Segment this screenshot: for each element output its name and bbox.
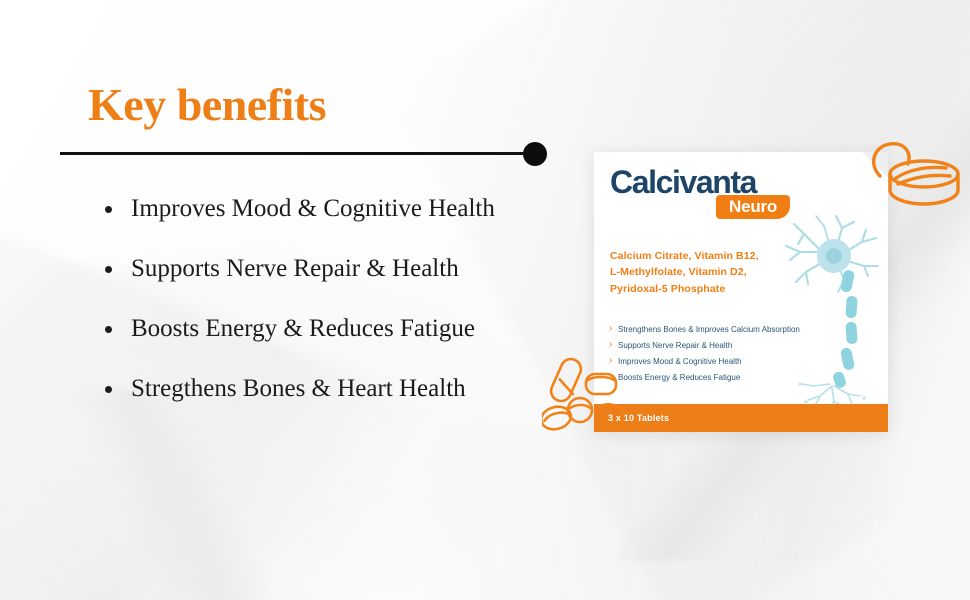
pack-size-bar: 3 x 10 Tablets: [594, 404, 888, 432]
neuron-myelin-sheath: [832, 269, 858, 389]
pill-tablets-icon: [862, 134, 968, 218]
brand-wordmark: Calcivanta: [610, 166, 756, 198]
list-item: Stregthens Bones & Heart Health: [100, 376, 570, 401]
list-item: Boosts Energy & Reduces Fatigue: [100, 316, 570, 341]
pill-capsules-icon: [542, 356, 626, 438]
ingredients-text: Calcium Citrate, Vitamin B12, L-Methylfo…: [610, 248, 790, 297]
neuron-nucleus: [826, 248, 842, 264]
benefits-list: Improves Mood & Cognitive Health Support…: [100, 196, 570, 436]
title-divider-dot: [523, 142, 547, 166]
slide-canvas: Key benefits Improves Mood & Cognitive H…: [0, 0, 970, 600]
ingredients-line: L-Methylfolate, Vitamin D2,: [610, 264, 790, 280]
neuron-icon: [764, 208, 888, 408]
ingredients-line: Pyridoxal-5 Phosphate: [610, 281, 790, 297]
list-item: Improves Mood & Cognitive Health: [100, 196, 570, 221]
list-item: Supports Nerve Repair & Health: [100, 256, 570, 281]
ingredients-line: Calcium Citrate, Vitamin B12,: [610, 248, 790, 264]
product-package: Calcivanta Neuro Calcium Citrate, Vitami…: [594, 152, 888, 432]
title-divider-line: [60, 152, 536, 155]
page-title: Key benefits: [88, 78, 326, 131]
